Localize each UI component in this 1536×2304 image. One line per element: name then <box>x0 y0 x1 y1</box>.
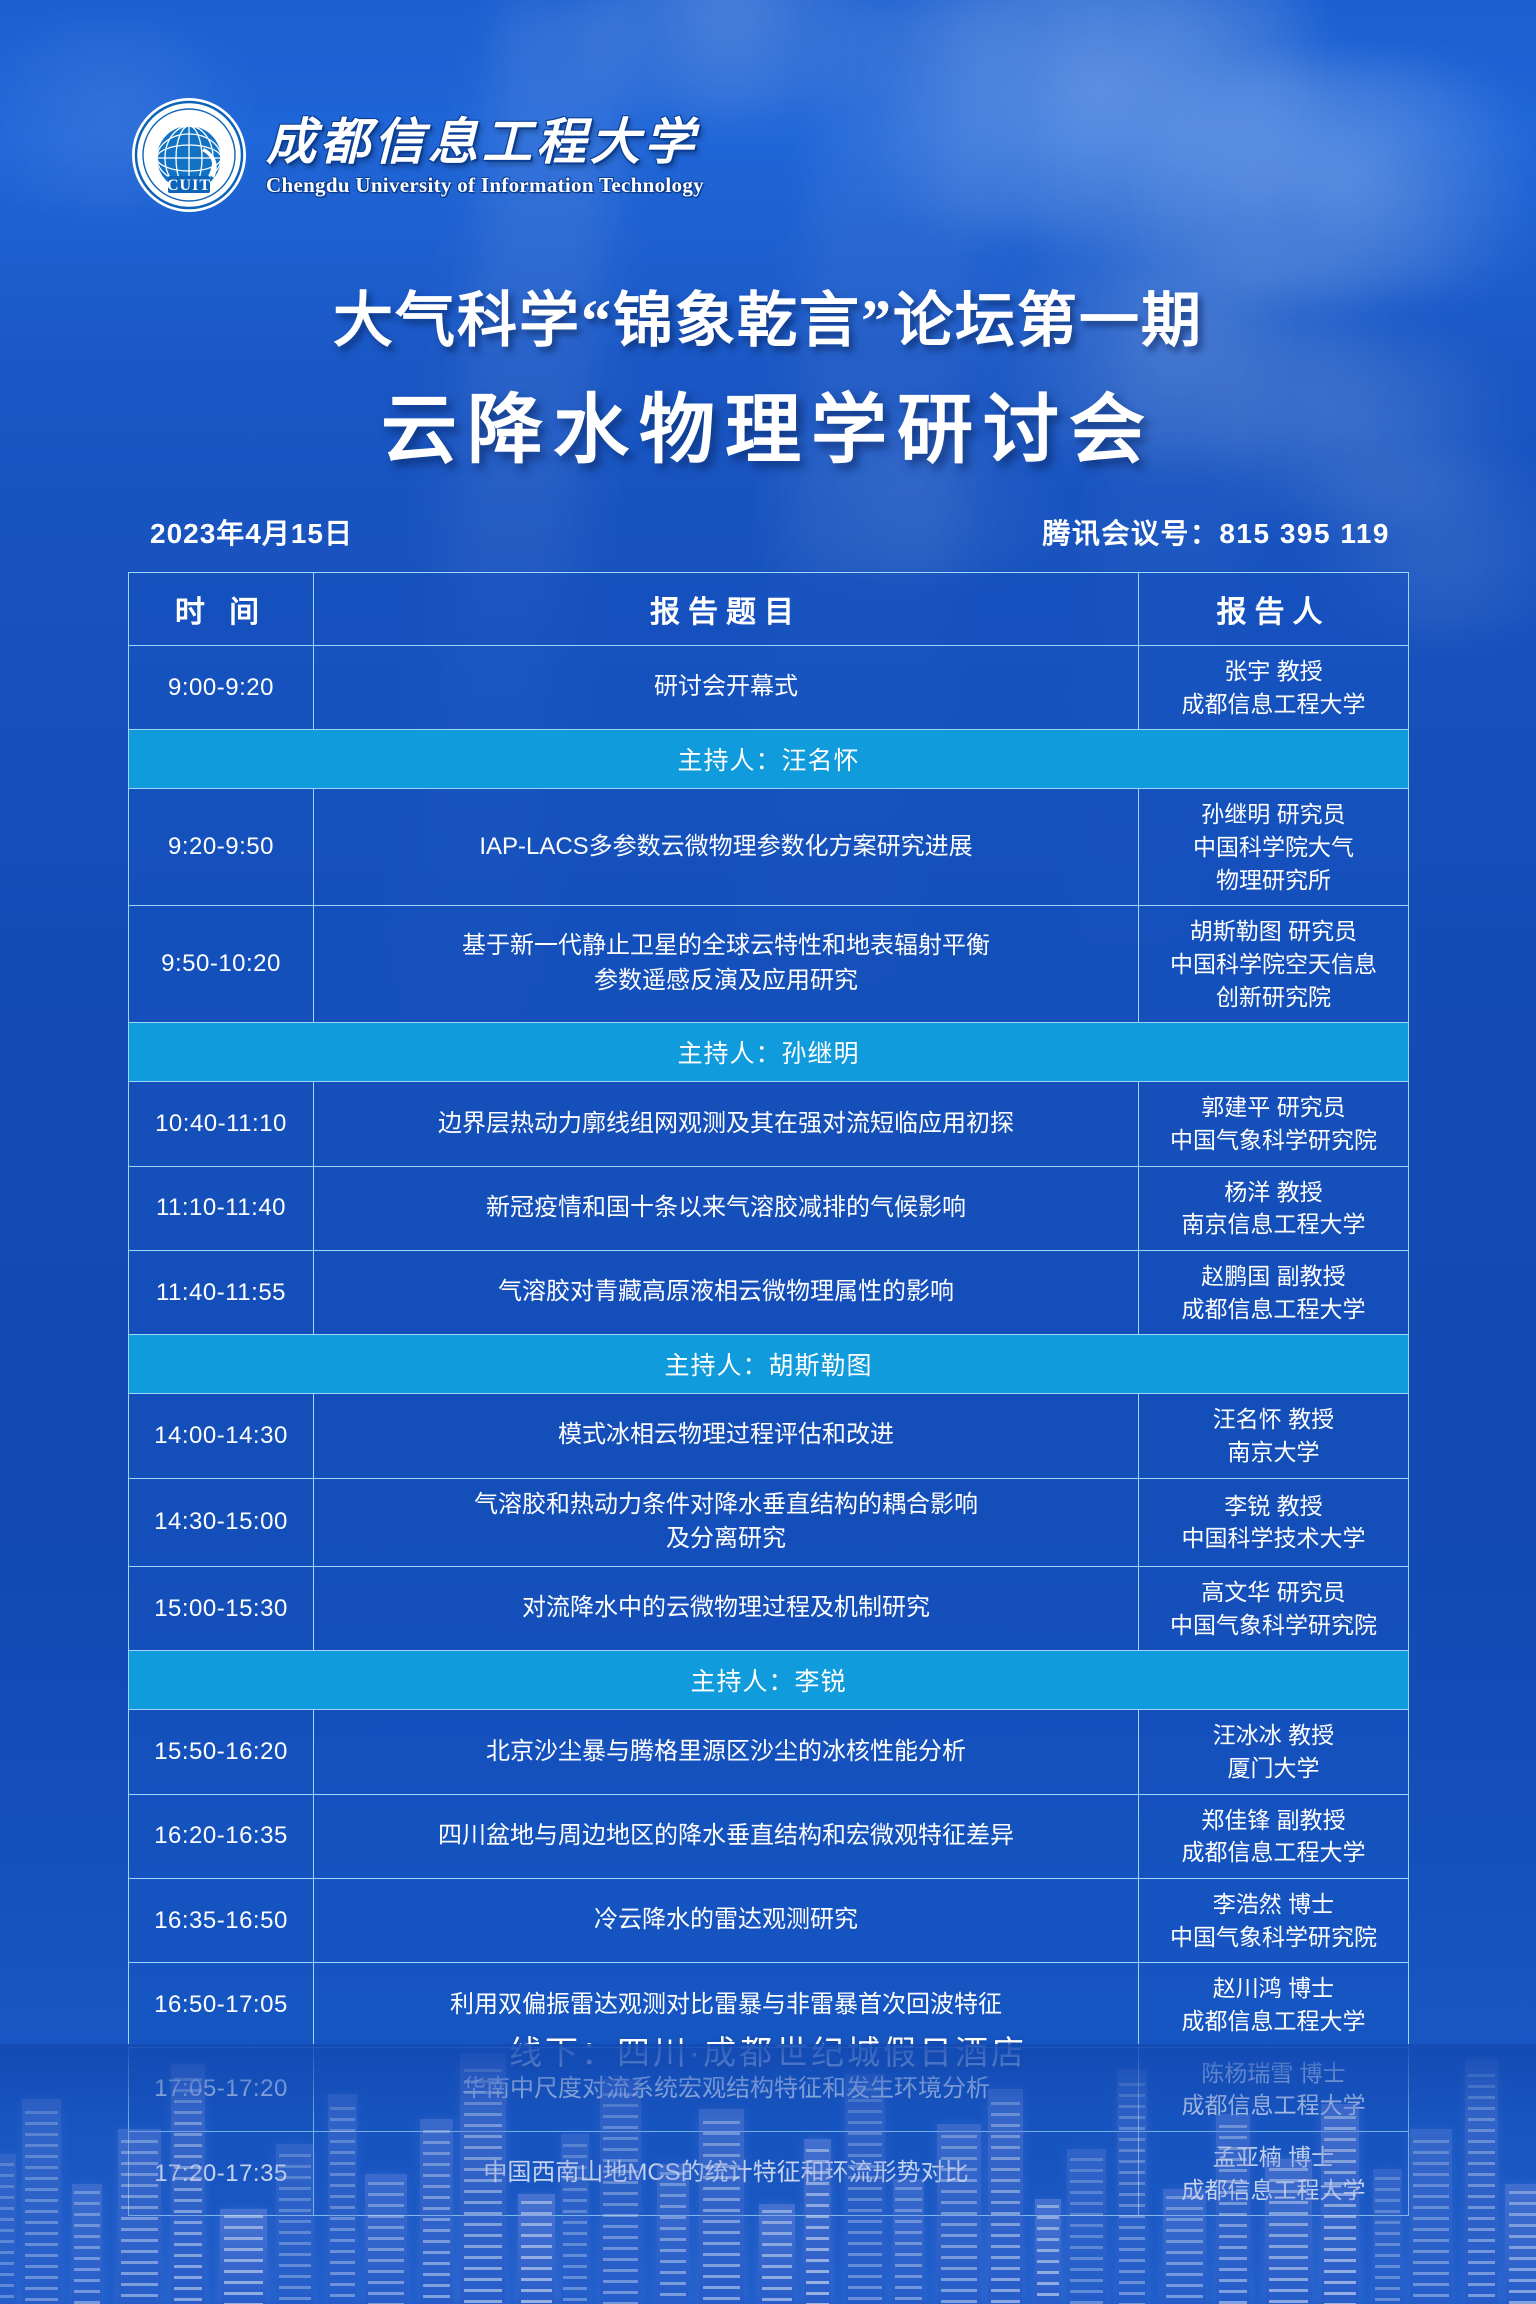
building-shape <box>561 2134 589 2304</box>
building-shape <box>1373 2169 1402 2304</box>
university-name-block: 成都信息工程大学 Chengdu University of Informati… <box>266 116 704 199</box>
cell-time: 9:20-9:50 <box>129 789 314 906</box>
cell-speaker: 胡斯勒图 研究员中国科学院空天信息创新研究院 <box>1139 906 1409 1023</box>
table-row: 9:00-9:20研讨会开幕式张宇 教授成都信息工程大学 <box>129 646 1409 730</box>
cell-time: 15:00-15:30 <box>129 1567 314 1651</box>
university-name-cn: 成都信息工程大学 <box>266 116 704 169</box>
building-shape <box>420 2119 453 2304</box>
cell-topic: 基于新一代静止卫星的全球云特性和地表辐射平衡参数遥感反演及应用研究 <box>314 906 1139 1023</box>
cuit-seal-icon: CUIT <box>130 96 248 214</box>
chair-label: 主持人：胡斯勒图 <box>129 1335 1409 1394</box>
cell-time: 11:40-11:55 <box>129 1250 314 1334</box>
table-header-row: 时 间 报告题目 报告人 <box>129 573 1409 646</box>
university-name-en: Chengdu University of Information Techno… <box>266 173 704 198</box>
cell-speaker: 赵鹏国 副教授成都信息工程大学 <box>1139 1250 1409 1334</box>
cell-speaker: 郑佳锋 副教授成都信息工程大学 <box>1139 1794 1409 1878</box>
cell-topic: 边界层热动力廓线组网观测及其在强对流短临应用初探 <box>314 1082 1139 1166</box>
cell-speaker: 高文华 研究员中国气象科学研究院 <box>1139 1567 1409 1651</box>
building-shape <box>1163 2189 1206 2304</box>
cell-time: 9:50-10:20 <box>129 906 314 1023</box>
event-meta-row: 2023年4月15日 腾讯会议号：815 395 119 <box>150 512 1390 552</box>
cell-time: 14:00-14:30 <box>129 1394 314 1478</box>
building-shape <box>1216 2114 1250 2304</box>
cell-topic: 模式冰相云物理过程评估和改进 <box>314 1394 1139 1478</box>
cell-speaker: 李锐 教授中国科学技术大学 <box>1139 1478 1409 1567</box>
svg-text:CUIT: CUIT <box>167 177 211 194</box>
cell-speaker: 汪冰冰 教授厦门大学 <box>1139 1710 1409 1794</box>
building-shape <box>657 2164 689 2304</box>
chair-row: 主持人：李锐 <box>129 1651 1409 1710</box>
table-row: 14:00-14:30模式冰相云物理过程评估和改进汪名怀 教授南京大学 <box>129 1394 1409 1478</box>
building-shape <box>1505 2184 1536 2304</box>
building-shape <box>988 2089 1023 2304</box>
cell-topic: 研讨会开幕式 <box>314 646 1139 730</box>
building-shape <box>1265 2159 1312 2304</box>
table-row: 15:00-15:30对流降水中的云微物理过程及机制研究高文华 研究员中国气象科… <box>129 1567 1409 1651</box>
building-shape <box>220 2209 267 2304</box>
building-shape <box>460 2054 506 2304</box>
building-shape <box>1035 2199 1061 2304</box>
table-row: 16:20-16:35四川盆地与周边地区的降水垂直结构和宏微观特征差异郑佳锋 副… <box>129 1794 1409 1878</box>
building-shape <box>845 2074 885 2304</box>
building-shape <box>1410 2129 1452 2304</box>
cell-time: 14:30-15:00 <box>129 1478 314 1567</box>
chair-label: 主持人：孙继明 <box>129 1023 1409 1082</box>
building-shape <box>1321 2104 1359 2304</box>
building-shape <box>276 2144 314 2304</box>
column-header-topic: 报告题目 <box>314 573 1139 646</box>
conference-poster: CUIT 成都信息工程大学 Chengdu University of Info… <box>0 0 1536 2304</box>
building-shape <box>804 2139 831 2304</box>
chair-label: 主持人：汪名怀 <box>129 730 1409 789</box>
column-header-speaker: 报告人 <box>1139 573 1409 646</box>
table-row: 16:35-16:50冷云降水的雷达观测研究李浩然 博士中国气象科学研究院 <box>129 1879 1409 1963</box>
cell-time: 11:10-11:40 <box>129 1166 314 1250</box>
cell-speaker: 郭建平 研究员中国气象科学研究院 <box>1139 1082 1409 1166</box>
building-shape <box>759 2204 795 2304</box>
table-row: 11:10-11:40新冠疫情和国十条以来气溶胶减排的气候影响杨洋 教授南京信息… <box>129 1166 1409 1250</box>
building-shape <box>0 2154 16 2304</box>
city-skyline-graphic <box>0 2044 1536 2304</box>
cell-topic: 冷云降水的雷达观测研究 <box>314 1879 1139 1963</box>
building-shape <box>600 2079 641 2304</box>
building-shape <box>1067 2149 1106 2304</box>
chair-row: 主持人：胡斯勒图 <box>129 1335 1409 1394</box>
cell-speaker: 张宇 教授成都信息工程大学 <box>1139 646 1409 730</box>
chair-label: 主持人：李锐 <box>129 1651 1409 1710</box>
branding-header: CUIT 成都信息工程大学 Chengdu University of Info… <box>130 96 704 214</box>
cell-speaker: 杨洋 教授南京信息工程大学 <box>1139 1166 1409 1250</box>
forum-title: 大气科学“锦象乾言”论坛第一期 <box>0 272 1536 359</box>
schedule-table-wrapper: 时 间 报告题目 报告人 9:00-9:20研讨会开幕式张宇 教授成都信息工程大… <box>128 572 1408 2216</box>
cell-topic: 对流降水中的云微物理过程及机制研究 <box>314 1567 1139 1651</box>
tencent-meeting-number: 腾讯会议号：815 395 119 <box>1042 512 1390 552</box>
table-row: 9:50-10:20基于新一代静止卫星的全球云特性和地表辐射平衡参数遥感反演及应… <box>129 906 1409 1023</box>
cell-time: 10:40-11:10 <box>129 1082 314 1166</box>
chair-row: 主持人：汪名怀 <box>129 730 1409 789</box>
table-row: 11:40-11:55气溶胶对青藏高原液相云微物理属性的影响赵鹏国 副教授成都信… <box>129 1250 1409 1334</box>
building-shape <box>118 2129 161 2304</box>
building-shape <box>328 2094 357 2304</box>
event-date: 2023年4月15日 <box>150 512 353 552</box>
cell-topic: 北京沙尘暴与腾格里源区沙尘的冰核性能分析 <box>314 1710 1139 1794</box>
event-title: 云降水物理学研讨会 <box>0 368 1536 478</box>
building-shape <box>518 2194 555 2304</box>
building-shape <box>365 2174 407 2304</box>
cell-speaker: 汪名怀 教授南京大学 <box>1139 1394 1409 1478</box>
building-shape <box>937 2124 981 2304</box>
cell-time: 15:50-16:20 <box>129 1710 314 1794</box>
cell-speaker: 李浩然 博士中国气象科学研究院 <box>1139 1879 1409 1963</box>
cell-speaker: 孙继明 研究员中国科学院大气物理研究所 <box>1139 789 1409 906</box>
table-row: 10:40-11:10边界层热动力廓线组网观测及其在强对流短临应用初探郭建平 研… <box>129 1082 1409 1166</box>
schedule-table: 时 间 报告题目 报告人 9:00-9:20研讨会开幕式张宇 教授成都信息工程大… <box>128 572 1409 2216</box>
cell-time: 9:00-9:20 <box>129 646 314 730</box>
cell-time: 16:35-16:50 <box>129 1879 314 1963</box>
building-shape <box>72 2184 102 2304</box>
cell-topic: IAP-LACS多参数云微物理参数化方案研究进展 <box>314 789 1139 906</box>
cell-topic: 气溶胶和热动力条件对降水垂直结构的耦合影响及分离研究 <box>314 1478 1139 1567</box>
building-shape <box>171 2064 205 2304</box>
building-shape <box>1465 2059 1498 2304</box>
cell-topic: 四川盆地与周边地区的降水垂直结构和宏微观特征差异 <box>314 1794 1139 1878</box>
table-row: 14:30-15:00气溶胶和热动力条件对降水垂直结构的耦合影响及分离研究李锐 … <box>129 1478 1409 1567</box>
building-shape <box>22 2099 61 2304</box>
building-shape <box>1117 2069 1147 2304</box>
building-shape <box>699 2109 744 2304</box>
cell-time: 16:20-16:35 <box>129 1794 314 1878</box>
chair-row: 主持人：孙继明 <box>129 1023 1409 1082</box>
cell-topic: 新冠疫情和国十条以来气溶胶减排的气候影响 <box>314 1166 1139 1250</box>
table-row: 15:50-16:20北京沙尘暴与腾格里源区沙尘的冰核性能分析汪冰冰 教授厦门大… <box>129 1710 1409 1794</box>
table-row: 9:20-9:50IAP-LACS多参数云微物理参数化方案研究进展孙继明 研究员… <box>129 789 1409 906</box>
building-shape <box>893 2179 924 2304</box>
column-header-time: 时 间 <box>129 573 314 646</box>
cell-topic: 气溶胶对青藏高原液相云微物理属性的影响 <box>314 1250 1139 1334</box>
schedule-table-body: 9:00-9:20研讨会开幕式张宇 教授成都信息工程大学主持人：汪名怀9:20-… <box>129 646 1409 2216</box>
